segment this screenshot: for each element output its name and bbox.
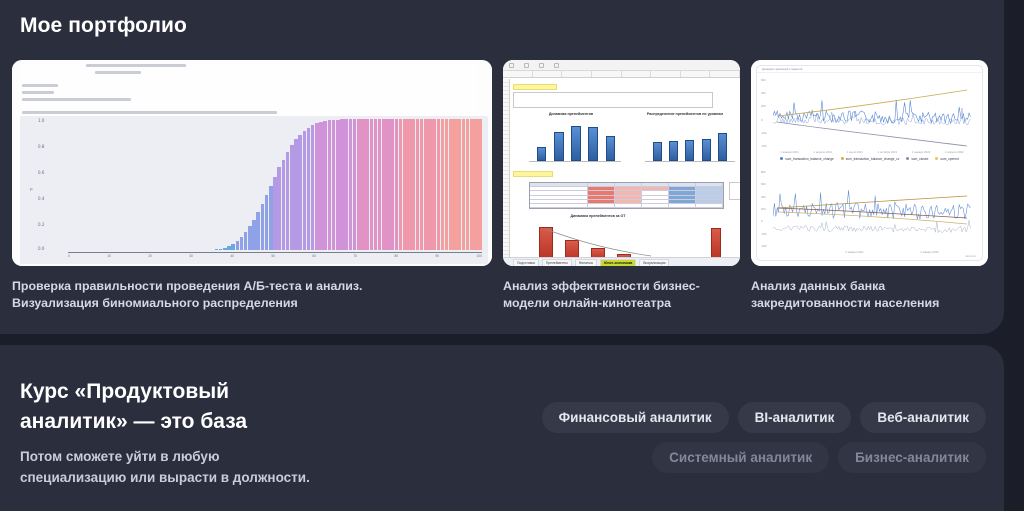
excel-row-headers [503,79,510,257]
specialization-pill[interactable]: Системный аналитик [652,442,829,473]
x-tick-label: 70 [353,254,357,263]
x-tick-labels-bottom: 1 января 2021 1 января 2022 [817,250,967,254]
cdf-bar [466,119,470,250]
dashboard-header-label: Динамика транзакций и закрытий [762,68,802,71]
legend-item[interactable]: sum_opened [935,157,958,161]
x-tick-label: 40 [230,254,234,263]
legend-item[interactable]: sum_transaction_balance_change_cc [841,157,900,161]
y-tick-label: 400 [761,91,767,95]
cdf-bar [416,119,420,250]
specialization-pill[interactable]: Финансовый аналитик [542,402,729,433]
chart-legend: sum_transaction_balance_change sum_trans… [757,154,982,163]
y-tick-labels-top: 600 400 200 0 -200 -400 [761,78,767,148]
dashboard-header: Динамика транзакций и закрытий [757,66,982,73]
cdf-bar [315,123,319,250]
cdf-bar [478,119,482,250]
y-tick-label: -200 [761,232,767,236]
course-panel: Курс «Продуктовый аналитик» — это база П… [0,345,1004,511]
cdf-bar [215,249,219,250]
cdf-bar [319,122,323,250]
cdf-bar [386,119,390,250]
excel-column-headers [503,71,740,78]
timeseries-plot-bottom [773,168,971,250]
card-caption: Анализ данных банка закредитованности на… [751,278,988,311]
x-tick-label: 30 [189,254,193,263]
undo-icon [524,63,529,68]
chart-bars-side [699,221,733,261]
x-axis-line [68,252,482,253]
y-tick-label: 800 [761,170,767,174]
cdf-bar [298,135,302,250]
cdf-bar [336,120,340,250]
legend-color-swatch [935,157,938,160]
course-subtitle: Потом сможете уйти в любую специализацию… [20,446,310,488]
cdf-bar [340,119,344,250]
sheet-tab[interactable]: Визуализация [639,259,669,266]
cdf-bar [378,119,382,250]
cdf-bar [474,119,478,250]
chart-axis [645,161,735,162]
sheet-tab-active[interactable]: Юнит-экономика [600,259,636,266]
metrics-table [529,182,724,209]
cdf-bar [328,120,332,250]
sheet-tab[interactable]: Препейменты [542,259,572,266]
y-tick-label: 1.0 [38,118,44,123]
chart-title: Динамика препейментов за ОТ [543,214,653,218]
y-tick-label: 600 [761,78,767,82]
y-tick-label: 200 [761,207,767,211]
excel-screenshot: Динамика препейментов Распределение преп… [503,60,740,266]
x-tick-label: 60 [312,254,316,263]
cdf-bar [294,139,298,250]
cdf-bar [365,119,369,250]
cdf-bar [399,119,403,250]
cdf-bar [361,119,365,250]
y-tick-label: 600 [761,182,767,186]
page-title: Мое портфолио [20,14,187,38]
cdf-bar [236,241,240,250]
chart-bars-distribution [649,131,731,161]
legend-color-swatch [780,157,783,160]
cdf-bar [344,119,348,250]
cdf-bar [457,119,461,250]
highlight-cell [513,84,557,90]
cdf-bar [282,160,286,250]
cdf-bar [219,249,223,250]
cdf-bar [424,119,428,250]
specialization-pill[interactable]: Бизнес-аналитик [838,442,986,473]
cdf-bar [311,125,315,250]
cdf-bar [395,119,399,250]
cdf-bar [240,237,244,250]
specialization-pill-list: Финансовый аналитикBI-аналитикВеб-аналит… [480,402,986,473]
notebook-screenshot: 1.0 0.8 0.6 0.4 0.2 0.0 P 01020304050607… [12,60,492,266]
portfolio-card-ab-test[interactable]: 1.0 0.8 0.6 0.4 0.2 0.0 P 01020304050607… [12,60,492,311]
redo-icon [539,63,544,68]
cdf-bar [411,119,415,250]
cdf-bar [332,120,336,250]
cdf-bar [231,244,235,250]
legend-color-swatch [841,157,844,160]
card-caption: Проверка правильности проведения А/Б-тес… [12,278,492,311]
chart-bars-dynamics [533,119,619,161]
thumbnail-timeseries-dashboard[interactable]: Динамика транзакций и закрытий 600 400 2… [751,60,988,266]
cdf-bar [273,177,277,250]
y-tick-label: 0.8 [38,144,44,149]
x-tick-label: 80 [394,254,398,263]
x-tick-label: 50 [271,254,275,263]
binomial-cdf-plot: 1.0 0.8 0.6 0.4 0.2 0.0 P 01020304050607… [20,116,488,264]
legend-label: sum_transaction_balance_change_cc [846,157,900,161]
chart-title: Распределение препейментов по уровням [633,112,737,116]
cdf-bar [453,119,457,250]
y-tick-label: -200 [761,131,767,135]
y-tick-label: -400 [761,144,767,148]
course-title: Курс «Продуктовый аналитик» — это база [20,377,247,437]
highlight-cell [513,171,553,177]
chart-axis [529,161,621,162]
cdf-bar [357,119,361,250]
axis-note: date/time [965,255,976,258]
cdf-bar [227,246,231,250]
y-tick-label: 0 [761,219,767,223]
cdf-bar [432,119,436,250]
x-tick-label: 100 [477,254,482,263]
chart-title: Динамика препейментов [521,112,621,116]
legend-label: sum_opened [940,157,958,161]
cdf-bar [261,204,265,251]
cdf-bar [382,119,386,250]
cdf-bar [403,119,407,250]
cdf-bar [244,232,248,250]
x-tick-label: 0 [68,254,70,263]
cdf-bar [277,167,281,250]
trend-line [533,221,663,261]
excel-icon [509,63,514,68]
y-tick-label: 0 [761,118,767,122]
legend-label: sum_closed [911,157,928,161]
cdf-bar-series [68,119,482,250]
thumbnail-excel-dashboard[interactable]: Динамика препейментов Распределение преп… [503,60,740,266]
timeseries-screenshot: Динамика транзакций и закрытий 600 400 2… [751,60,988,266]
cdf-bar [470,119,474,250]
notebook-code-block [22,64,478,116]
cdf-bar [374,119,378,250]
y-tick-label: 0.2 [38,222,44,227]
cdf-bar [462,119,466,250]
x-tick-label: 10 [107,254,111,263]
cdf-bar [407,119,411,250]
text-note-box [513,92,713,108]
legend-item[interactable]: sum_transaction_balance_change [780,157,834,161]
excel-sheet-tabs[interactable]: Подготовка Препейменты Финансы Юнит-экон… [503,257,740,266]
portfolio-card-cinema-business[interactable]: Динамика препейментов Распределение преп… [503,60,740,311]
cdf-bar [390,119,394,250]
portfolio-page: Мое портфолио [0,0,1024,511]
legend-item[interactable]: sum_closed [906,157,928,161]
y-tick-label: 400 [761,195,767,199]
y-tick-labels-bottom: 800 600 400 200 0 -200 -400 [761,170,767,248]
y-tick-label: 0.4 [38,196,44,201]
x-tick-label: 20 [148,254,152,263]
cdf-bar [353,119,357,250]
sheet-tab[interactable]: Финансы [575,259,597,266]
cdf-bar [286,152,290,250]
x-tick-labels: 0102030405060708090100 [68,254,482,263]
y-tick-label: -400 [761,244,767,248]
cdf-bar [223,248,227,250]
legend-color-swatch [906,157,909,160]
timeseries-line [773,190,970,219]
cdf-bar [248,226,252,250]
y-axis-label: P [30,187,33,192]
specialization-pill[interactable]: BI-аналитик [738,402,852,433]
sheet-tab[interactable]: Подготовка [513,259,539,266]
specialization-pill[interactable]: Веб-аналитик [860,402,986,433]
cdf-bar [441,119,445,250]
cdf-bar [269,186,273,250]
excel-sheet-body: Динамика препейментов Распределение преп… [503,79,740,257]
timeseries-line [773,100,970,124]
cdf-bar [420,119,424,250]
portfolio-card-list: 1.0 0.8 0.6 0.4 0.2 0.0 P 01020304050607… [12,60,988,311]
cdf-bar [437,119,441,250]
y-tick-label: 200 [761,104,767,108]
side-note-box [729,182,740,200]
portfolio-card-bank-data[interactable]: Динамика транзакций и закрытий 600 400 2… [751,60,988,311]
cdf-bar [349,119,353,250]
x-tick-label: 1 января 2021 [845,250,863,254]
timeseries-plot-top [773,76,971,150]
portfolio-panel: Мое портфолио [0,0,1004,334]
cdf-bar [290,145,294,250]
cdf-bar [428,119,432,250]
cdf-bar [307,128,311,250]
cdf-bar [265,195,269,250]
cdf-bar [252,220,256,250]
excel-ribbon [503,60,740,71]
cdf-bar [449,119,453,250]
y-tick-label: 0.0 [38,246,44,251]
formula-icon [554,63,559,68]
cdf-bar [370,119,374,250]
cdf-bar [323,121,327,250]
dashboard-card: Динамика транзакций и закрытий 600 400 2… [756,65,983,261]
x-tick-label: 90 [436,254,440,263]
card-caption: Анализ эффективности бизнес- модели онла… [503,278,740,311]
cdf-bar [303,131,307,250]
cdf-bar [256,212,260,250]
x-tick-label: 1 января 2022 [920,250,938,254]
thumbnail-binomial-notebook[interactable]: 1.0 0.8 0.6 0.4 0.2 0.0 P 01020304050607… [12,60,492,266]
y-tick-label: 0.6 [38,170,44,175]
cdf-bar [445,119,449,250]
legend-label: sum_transaction_balance_change [785,157,834,161]
